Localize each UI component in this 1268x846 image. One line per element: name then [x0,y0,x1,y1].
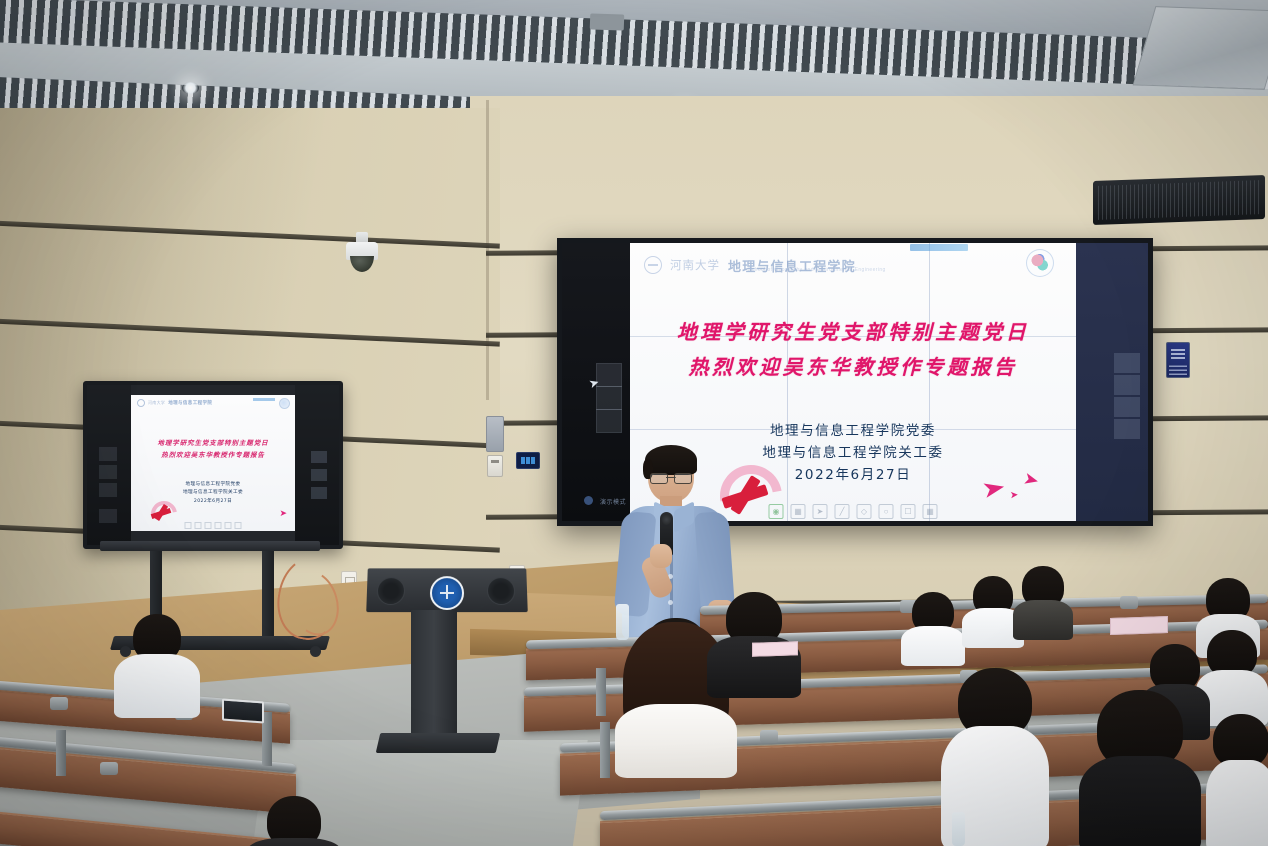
school-logo-icon [1026,249,1054,277]
audience-member [900,592,966,656]
audience-member [112,614,202,710]
magnifier-icon[interactable]: ○ [879,504,894,519]
toolbar-icon[interactable] [205,522,212,529]
presenter-hand [650,544,672,568]
slide-toolbar[interactable]: ◉ ▦ ➤ ╱ ◇ ○ ☐ ▦ [769,504,938,519]
dove-shape: ➤ [1021,469,1040,489]
trolley-wheel [310,646,321,657]
wall-control-panel-icon[interactable] [486,416,504,452]
ptz-dome-camera-icon [345,232,379,276]
rail-joint [760,730,778,743]
monitor-right-bezel-panel [295,385,339,545]
monitor-toolbar[interactable] [185,522,242,529]
rail-joint [1120,596,1138,609]
sign-text-lines [1169,365,1187,375]
wall-speaker-icon [1093,175,1265,225]
monitor-side-button[interactable] [99,509,117,523]
monitor-title-line-2: 热烈欢迎吴东华教授作专题报告 [131,449,295,461]
slide-title-line-2: 热烈欢迎吴东华教授作专题报告 [630,350,1076,385]
monitor-organization-line-1: 地理与信息工程学院党委 [131,481,295,489]
ceiling-vent [1133,6,1268,90]
lecture-hall-photo: ➤ 演示模式 河南大学 地理与信息工程学院 School of Geograph… [0,0,1268,846]
toolbar-icon[interactable] [225,522,232,529]
slide-school-name-en: School of Geography and Environmental En… [748,267,886,273]
monitor-side-button[interactable] [99,447,117,461]
monitor-organization-line-2: 地理与信息工程学院关工委 [131,489,295,497]
screen-side-button[interactable] [596,409,622,433]
sign-pictogram [1171,347,1185,359]
presenter-hair [645,445,697,475]
person-torso [247,838,341,846]
person-torso [1013,600,1073,640]
person-torso [114,654,200,718]
monitor-title-line-1: 地理学研究生党支部特别主题党日 [131,437,295,449]
monitor-title-block: 地理学研究生党支部特别主题党日 热烈欢迎吴东华教授作专题报告 [131,437,295,462]
screen-side-button[interactable] [596,363,622,387]
camera-dome-lens [350,256,374,272]
toolbar-icon[interactable] [185,522,192,529]
crest-mark [440,592,454,594]
monitor-school-name: 地理与信息工程学院 [168,400,212,406]
display-trolley-post [262,551,274,639]
rail-joint [50,697,68,710]
glasses-lens [674,473,692,484]
cpc-hammer-sickle-emblem [149,499,175,523]
desk-leg [600,722,610,778]
screen-side-button[interactable] [1114,397,1140,417]
monitor-side-button[interactable] [311,451,327,463]
shirt-button [668,600,673,605]
screen-right-navy-panel [1076,243,1148,521]
slide-organization-line-1: 地理与信息工程学院党委 [630,421,1076,443]
presenter-glasses-icon [650,473,692,483]
school-logo-icon [279,398,290,409]
toolbar-icon[interactable] [215,522,222,529]
display-digit [526,457,530,464]
screen-side-button[interactable] [1114,419,1140,439]
keyboard-icon[interactable]: ▦ [923,504,938,519]
screen-side-button[interactable] [596,386,622,410]
toolbar-icon[interactable] [235,522,242,529]
lectern-speaker-grille [487,577,516,605]
display-trolley-crossbar [100,541,320,551]
slide-title-line-1: 地理学研究生党支部特别主题党日 [630,315,1076,350]
university-crest-icon [430,576,464,610]
person-torso [615,704,737,778]
peace-doves-icon: ➤ ➤ ➤ [984,469,1062,505]
rail-joint [100,762,118,775]
eraser-icon[interactable]: ◇ [857,504,872,519]
slide-university-name: 河南大学 [670,257,720,273]
university-seal-icon [644,256,662,274]
monitor-side-button[interactable] [99,465,117,479]
screen-side-button[interactable] [1114,375,1140,395]
person-torso [1206,760,1268,846]
audience-member [1078,690,1202,846]
wall-switch-panel-icon[interactable] [487,455,503,477]
desk-leg [56,730,66,776]
dove-shape: ➤ [1010,491,1019,502]
monitor-side-button[interactable] [311,487,327,499]
cursor-pointer-icon[interactable]: ➤ [813,504,828,519]
secondary-interactive-display[interactable]: 河南大学 地理与信息工程学院 地理学研究生党支部特别主题党日 热烈欢迎吴东华教授… [83,381,343,549]
lectern-base [376,733,501,753]
lectern-top [366,568,528,612]
power-indicator-icon [584,496,593,505]
screen-side-button[interactable] [1114,353,1140,373]
no-smoking-notice-sign-icon [1166,342,1190,378]
person-torso [901,626,965,666]
monitor-university-name: 河南大学 [148,400,165,406]
lectern-column [411,610,457,738]
display-digit [531,457,535,464]
person-torso [1079,756,1201,846]
pink-paper [752,641,798,657]
university-seal-icon [137,399,145,407]
slide-header-accent-bar [910,244,968,251]
dove-shape: ➤ [979,475,1007,503]
thermostat-display[interactable] [516,452,540,469]
lectern-speaker-grille [377,577,406,605]
screenshot-icon[interactable]: ☐ [901,504,916,519]
water-bottle [616,604,629,640]
ceiling-mount-bracket [590,13,625,30]
secondary-display-slide: 河南大学 地理与信息工程学院 地理学研究生党支部特别主题党日 热烈欢迎吴东华教授… [131,395,295,531]
pink-paper [1110,616,1168,635]
pen-icon[interactable]: ╱ [835,504,850,519]
glasses-lens [650,473,668,484]
display-digit [521,457,525,464]
monitor-left-bezel-panel [87,385,131,545]
desk-leg [596,668,606,716]
ceiling-light [182,82,199,94]
water-bottle [952,812,965,846]
monitor-side-button[interactable] [99,483,117,497]
slide-title-block: 地理学研究生党支部特别主题党日 热烈欢迎吴东华教授作专题报告 [630,315,1076,385]
monitor-side-button[interactable] [311,469,327,481]
slide-header: 河南大学 地理与信息工程学院 [644,251,1066,279]
audience-member [1012,566,1074,628]
audience-member [246,796,342,846]
grid-view-icon[interactable]: ▦ [791,504,806,519]
presenter-tools-icon[interactable]: ◉ [769,504,784,519]
tablet-device [222,699,264,724]
audience-member [1206,714,1268,846]
monitor-header-accent-bar [253,398,275,401]
toolbar-icon[interactable] [195,522,202,529]
peace-doves-icon: ➤ [279,508,287,519]
